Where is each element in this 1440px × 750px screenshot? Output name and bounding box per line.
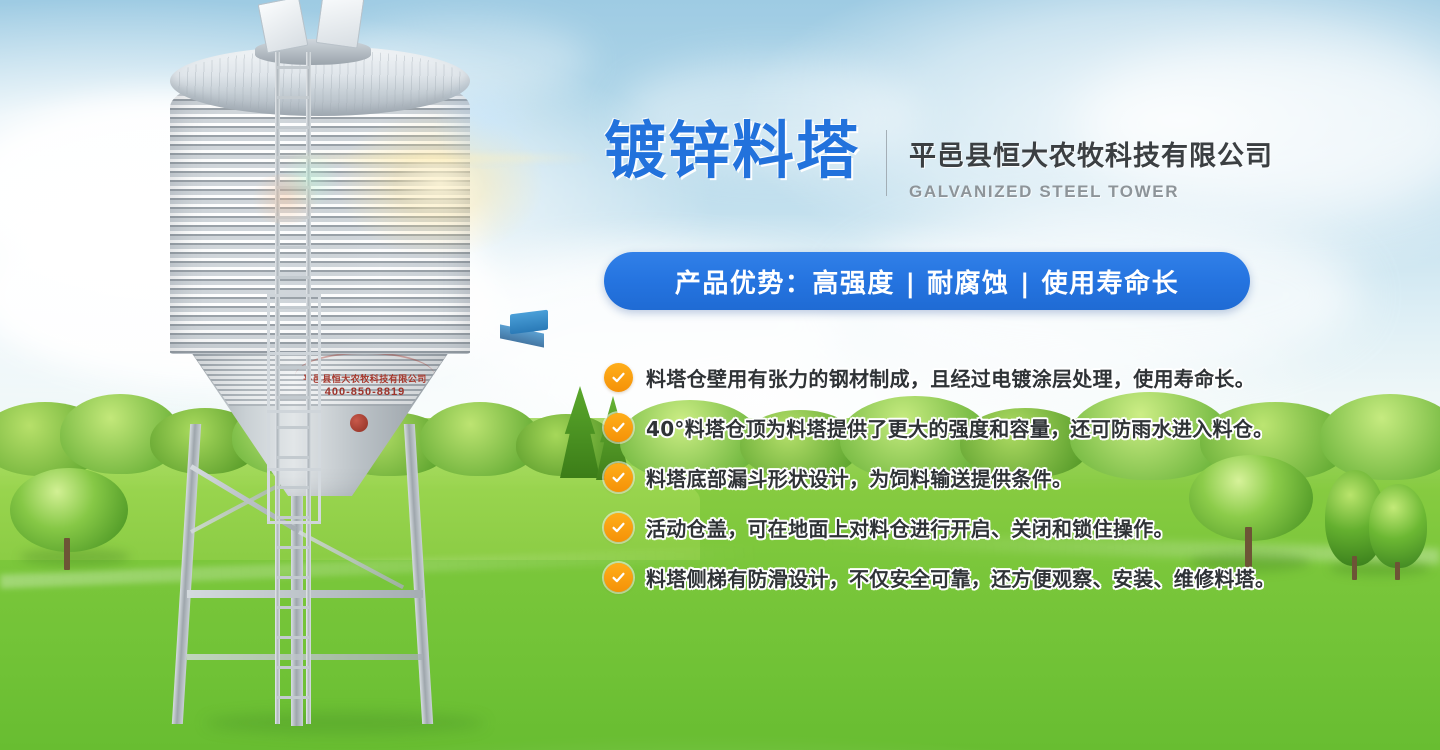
cage-hoop [267, 468, 321, 471]
banner-content: 镀锌料塔 平邑县恒大农牧科技有限公司 GALVANIZED STEEL TOWE… [604, 0, 1364, 750]
list-item: 40°料塔仓顶为料塔提供了更大的强度和容量，还可防雨水进入料仓。 [604, 402, 1364, 452]
ladder-rung [277, 156, 309, 159]
tree-trunk [1395, 562, 1400, 580]
title-divider [886, 130, 887, 196]
hero-banner: 平邑县恒大农牧科技有限公司 400-850-8819 [0, 0, 1440, 750]
silo-lid-panel [316, 0, 365, 49]
ladder-rung [277, 216, 309, 219]
cage-rail [267, 294, 270, 524]
cage-hoop [267, 294, 321, 297]
check-icon [604, 513, 633, 542]
feature-text: 料塔侧梯有防滑设计，不仅安全可靠，还方便观察、安装、维修料塔。 [646, 563, 1275, 592]
check-icon [604, 463, 633, 492]
ladder-rung [277, 246, 309, 249]
brand-block: 平邑县恒大农牧科技有限公司 GALVANIZED STEEL TOWER [909, 134, 1273, 202]
ladder-rung [277, 96, 309, 99]
conifer-tree [560, 386, 600, 478]
check-icon [604, 363, 633, 392]
headline-row: 镀锌料塔 平邑县恒大农牧科技有限公司 GALVANIZED STEEL TOWE… [604, 118, 1273, 202]
feature-text: 料塔底部漏斗形状设计，为饲料输送提供条件。 [646, 463, 1072, 492]
silo-lid-panel [258, 0, 309, 54]
ladder-rung [277, 636, 309, 639]
cage-hoop [267, 410, 321, 413]
feature-list: 料塔仓壁用有张力的钢材制成，且经过电镀涂层处理，使用寿命长。 40°料塔仓顶为料… [604, 352, 1364, 602]
ladder-rung [277, 696, 309, 699]
cage-rail [318, 294, 321, 524]
silo-ground-shadow [205, 712, 485, 734]
tree-trunk [64, 538, 70, 570]
list-item: 料塔仓壁用有张力的钢材制成，且经过电镀涂层处理，使用寿命长。 [604, 352, 1364, 402]
silo-leg [404, 424, 433, 724]
ladder-rung [277, 606, 309, 609]
feature-text: 40°料塔仓顶为料塔提供了更大的强度和容量，还可防雨水进入料仓。 [646, 413, 1273, 442]
ladder-rung [277, 66, 309, 69]
cage-hoop [267, 352, 321, 355]
list-item: 料塔底部漏斗形状设计，为饲料输送提供条件。 [604, 452, 1364, 502]
ladder-rung [277, 576, 309, 579]
page-title: 镀锌料塔 [604, 118, 860, 184]
feature-text: 料塔仓壁用有张力的钢材制成，且经过电镀涂层处理，使用寿命长。 [646, 363, 1255, 392]
advantages-pill[interactable]: 产品优势：高强度 | 耐腐蚀 | 使用寿命长 [604, 252, 1250, 310]
check-icon [604, 413, 633, 442]
ladder-rung [277, 666, 309, 669]
ladder-rung [277, 186, 309, 189]
silo-valve [350, 414, 368, 432]
ladder-rung [277, 546, 309, 549]
cage-hoop [267, 521, 321, 524]
list-item: 料塔侧梯有防滑设计，不仅安全可靠，还方便观察、安装、维修料塔。 [604, 552, 1364, 602]
company-name: 平邑县恒大农牧科技有限公司 [909, 134, 1273, 173]
silo-brace [298, 530, 404, 589]
ladder-rung [277, 276, 309, 279]
advantages-pill-label: 产品优势：高强度 | 耐腐蚀 | 使用寿命长 [675, 263, 1179, 300]
silo-product-image: 平邑县恒大农牧科技有限公司 400-850-8819 [95, 0, 515, 739]
check-icon [604, 563, 633, 592]
list-item: 活动仓盖，可在地面上对料仓进行开启、关闭和锁住操作。 [604, 502, 1364, 552]
company-subtitle: GALVANIZED STEEL TOWER [909, 182, 1273, 202]
ladder-safety-cage [267, 294, 321, 524]
tree-canopy [1369, 484, 1427, 568]
ladder-rung [277, 126, 309, 129]
feature-text: 活动仓盖，可在地面上对料仓进行开启、关闭和锁住操作。 [646, 513, 1174, 542]
